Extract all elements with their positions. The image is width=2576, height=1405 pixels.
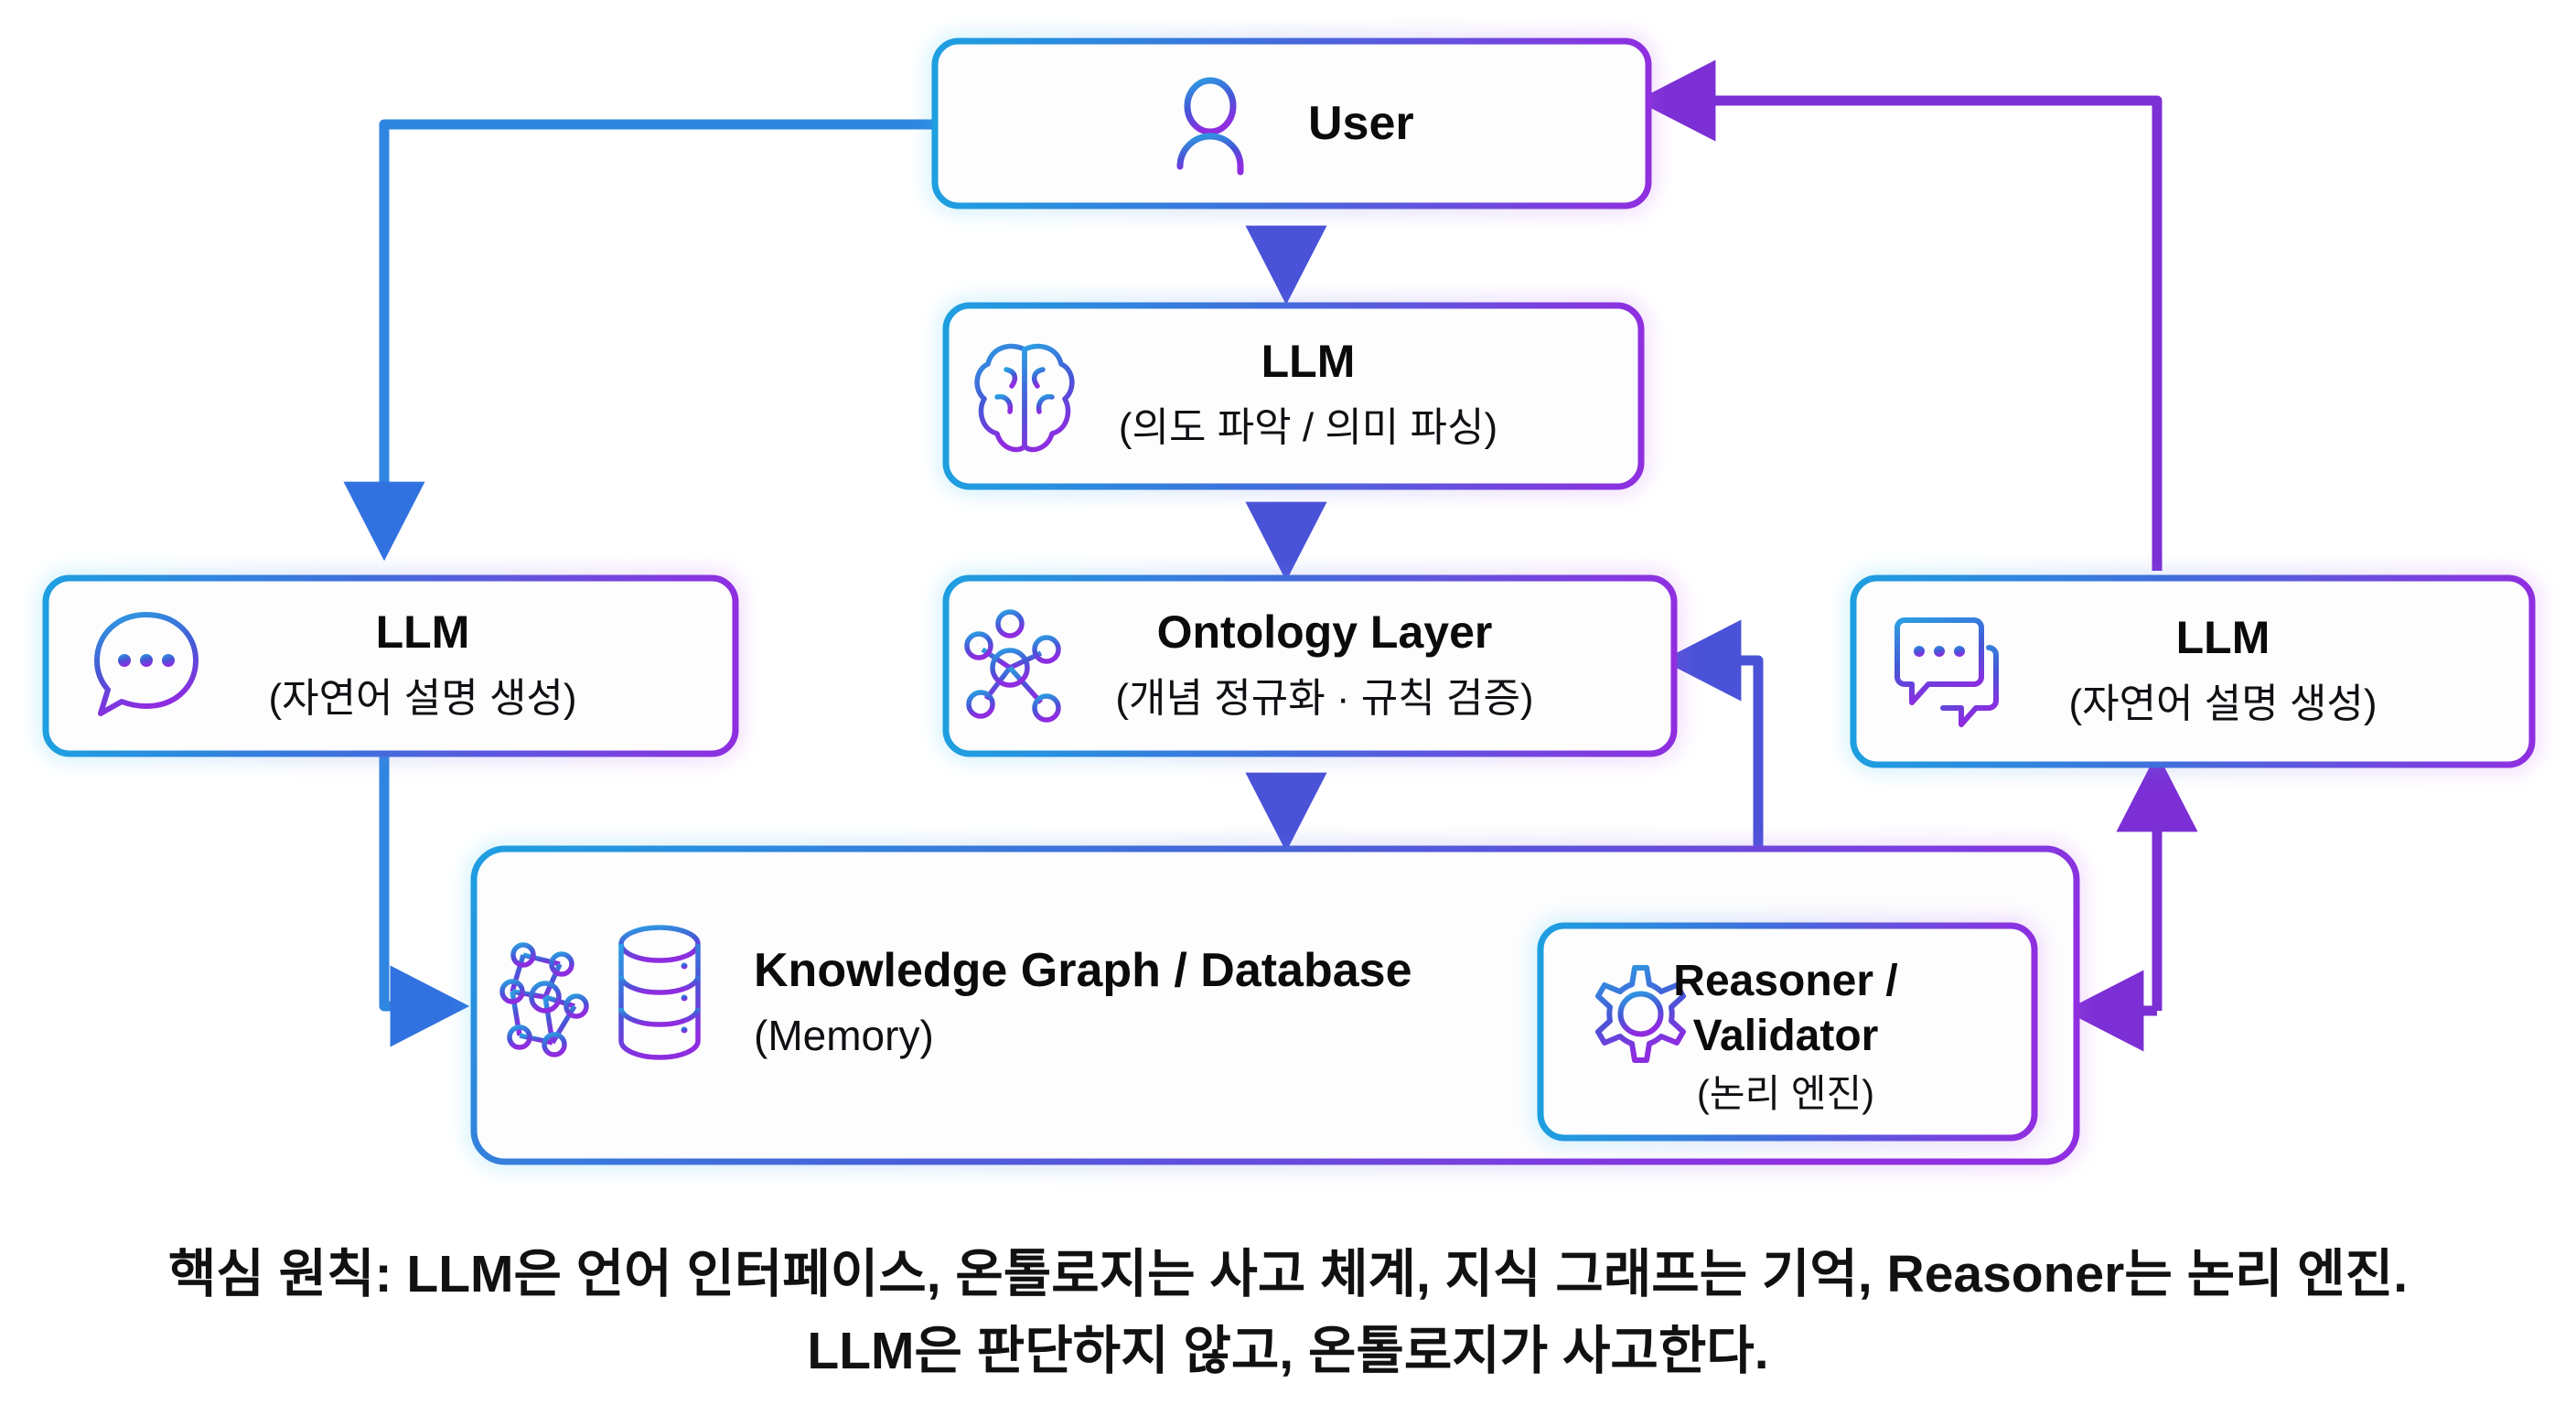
- connector-llm-left-to-knowledge-graph: [384, 754, 457, 1006]
- llm-right-title: LLM: [2176, 612, 2270, 663]
- knowledge-graph-title: Knowledge Graph / Database: [754, 944, 1412, 997]
- llm-left-subtitle: (자연어 설명 생성): [268, 676, 576, 721]
- caption-line-2: LLM은 판단하지 않고, 온톨로지가 사고한다.: [807, 1322, 1768, 1380]
- node-llm-left[interactable]: LLM (자연어 설명 생성): [46, 578, 735, 754]
- llm-right-box: [1853, 578, 2532, 765]
- reasoner-title-line2: Validator: [1693, 1012, 1879, 1060]
- node-user[interactable]: User: [935, 41, 1648, 206]
- diagram-canvas: User LLM (의도 파악 / 의미 파싱): [0, 0, 2576, 1405]
- node-llm-intent[interactable]: LLM (의도 파악 / 의미 파싱): [946, 306, 1641, 487]
- knowledge-graph-subtitle: (Memory): [754, 1012, 934, 1059]
- llm-intent-subtitle: (의도 파악 / 의미 파싱): [1119, 405, 1497, 450]
- reasoner-subtitle: (논리 엔진): [1697, 1072, 1874, 1115]
- flow-diagram: User LLM (의도 파악 / 의미 파싱): [0, 0, 2576, 1405]
- node-ontology[interactable]: Ontology Layer (개념 정규화 · 규칙 검증): [946, 578, 1674, 754]
- node-llm-right[interactable]: LLM (자연어 설명 생성): [1853, 578, 2532, 765]
- ontology-title: Ontology Layer: [1157, 606, 1493, 658]
- llm-left-title: LLM: [376, 606, 470, 658]
- reasoner-title-line1: Reasoner /: [1673, 957, 1897, 1005]
- ontology-subtitle: (개념 정규화 · 규칙 검증): [1115, 676, 1533, 721]
- connector-user-to-llm-left: [384, 124, 935, 549]
- user-title: User: [1308, 97, 1414, 150]
- llm-right-subtitle: (자연어 설명 생성): [2068, 681, 2377, 726]
- connector-llm-right-to-user: [1648, 101, 2157, 571]
- user-box: [935, 41, 1648, 206]
- caption-line-1: 핵심 원칙: LLM은 언어 인터페이스, 온톨로지는 사고 체계, 지식 그래…: [168, 1245, 2408, 1303]
- llm-intent-title: LLM: [1261, 336, 1356, 387]
- ontology-box: [946, 578, 1674, 754]
- node-reasoner[interactable]: Reasoner / Validator (논리 엔진): [1540, 926, 2034, 1138]
